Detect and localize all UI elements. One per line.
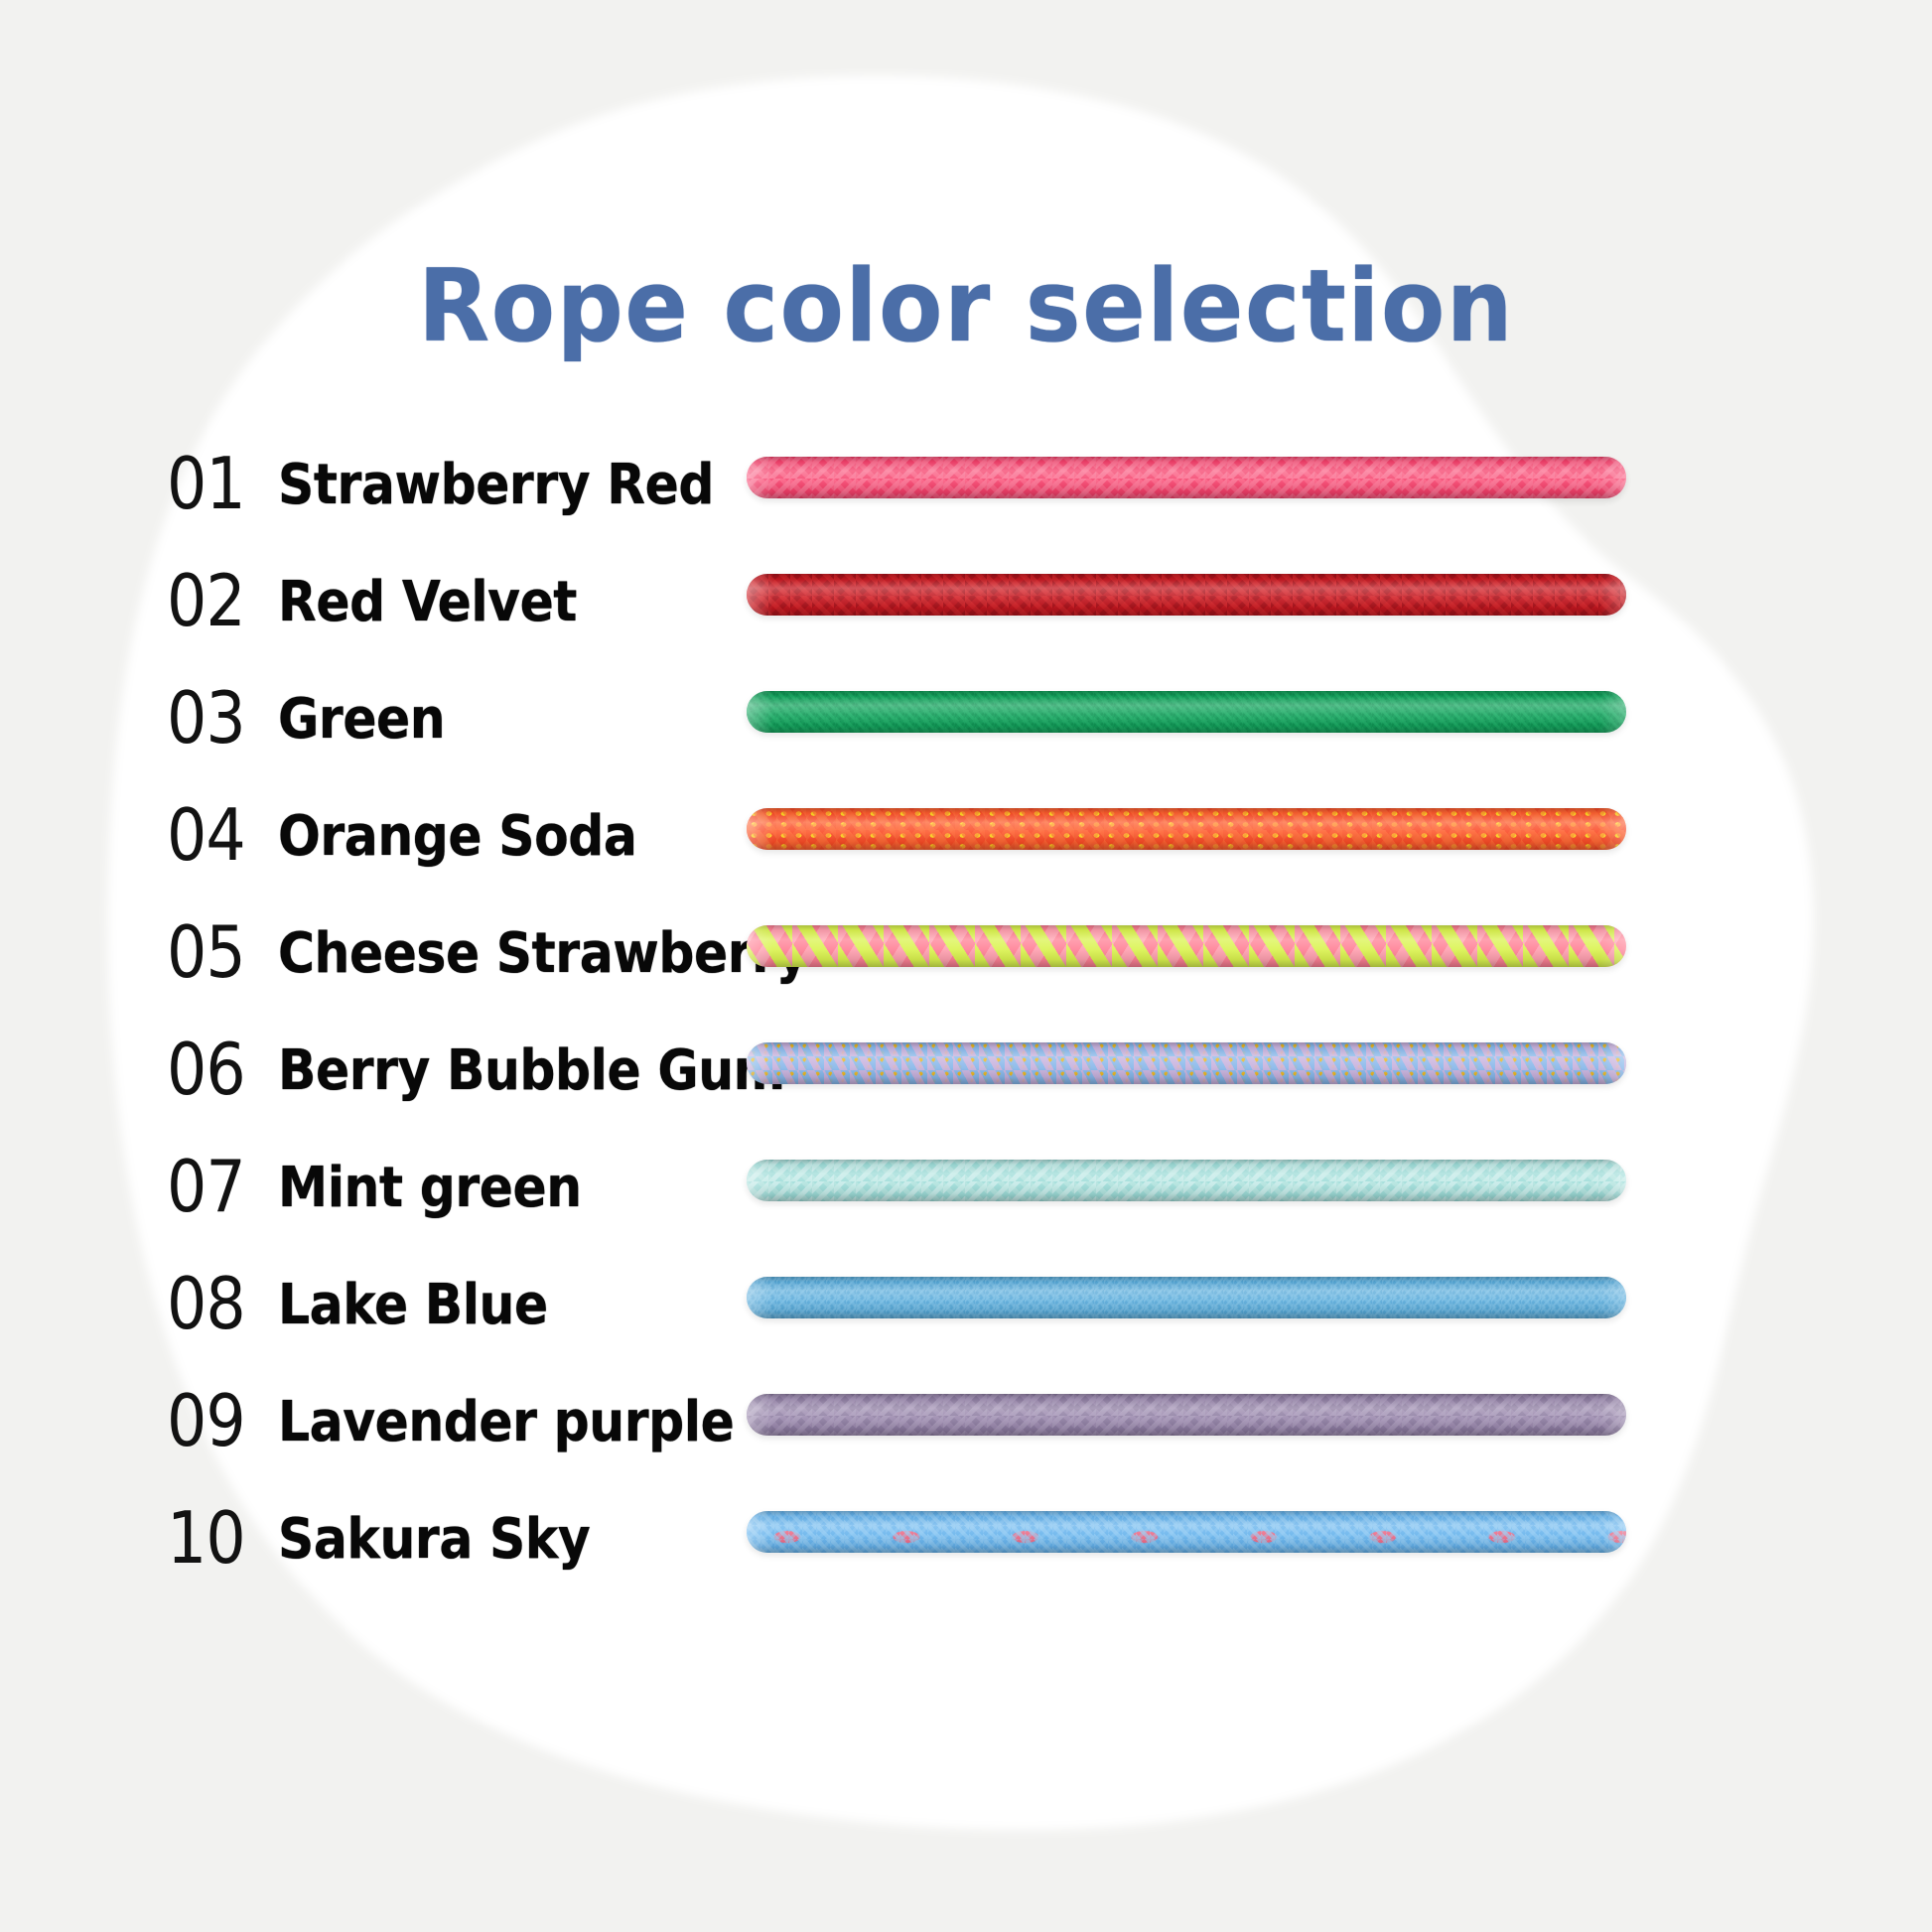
rope-item-label: Berry Bubble Gum <box>278 1038 785 1104</box>
rope-end-highlight <box>747 1042 1626 1084</box>
rope-list-item[interactable]: 06Berry Bubble Gum <box>0 1035 1932 1152</box>
rope-list-item[interactable]: 04Orange Soda <box>0 800 1932 917</box>
rope-item-number: 06 <box>167 1035 254 1104</box>
rope-item-label: Orange Soda <box>278 804 636 870</box>
rope-list-item[interactable]: 10Sakura Sky <box>0 1503 1932 1620</box>
rope-swatch-strawberry-red[interactable] <box>747 457 1626 498</box>
rope-end-highlight <box>747 1277 1626 1318</box>
rope-list-item[interactable]: 07Mint green <box>0 1152 1932 1269</box>
rope-swatch-orange-soda[interactable] <box>747 808 1626 850</box>
rope-item-label: Green <box>278 687 445 753</box>
rope-swatch-berry-bubble-gum[interactable] <box>747 1042 1626 1084</box>
rope-item-number: 04 <box>167 800 254 870</box>
rope-swatch-green[interactable] <box>747 691 1626 733</box>
rope-item-label: Red Velvet <box>278 570 577 635</box>
rope-swatch-lake-blue[interactable] <box>747 1277 1626 1318</box>
rope-end-highlight <box>747 457 1626 498</box>
rope-end-highlight <box>747 925 1626 967</box>
rope-item-number: 10 <box>167 1503 254 1573</box>
rope-list-item[interactable]: 05Cheese Strawberry <box>0 917 1932 1035</box>
rope-swatch-mint-green[interactable] <box>747 1160 1626 1201</box>
rope-item-number: 07 <box>167 1152 254 1221</box>
rope-item-number: 05 <box>167 917 254 987</box>
rope-item-label: Strawberry Red <box>278 453 714 518</box>
rope-item-label: Cheese Strawberry <box>278 921 808 987</box>
rope-item-label: Lavender purple <box>278 1390 734 1455</box>
rope-end-highlight <box>747 574 1626 616</box>
rope-item-number: 02 <box>167 566 254 635</box>
rope-end-highlight <box>747 691 1626 733</box>
rope-item-label: Sakura Sky <box>278 1507 590 1573</box>
rope-list-item[interactable]: 09Lavender purple <box>0 1386 1932 1503</box>
rope-color-list: 01Strawberry Red02Red Velvet03Green04Ora… <box>0 449 1932 1620</box>
rope-list-item[interactable]: 08Lake Blue <box>0 1269 1932 1386</box>
rope-end-highlight <box>747 1511 1626 1553</box>
rope-swatch-lavender-purple[interactable] <box>747 1394 1626 1436</box>
rope-list-item[interactable]: 02Red Velvet <box>0 566 1932 683</box>
rope-swatch-red-velvet[interactable] <box>747 574 1626 616</box>
rope-swatch-sakura-sky[interactable] <box>747 1511 1626 1553</box>
rope-list-item[interactable]: 03Green <box>0 683 1932 800</box>
rope-item-number: 03 <box>167 683 254 753</box>
rope-swatch-cheese-strawberry[interactable] <box>747 925 1626 967</box>
rope-item-number: 08 <box>167 1269 254 1338</box>
rope-item-label: Mint green <box>278 1156 582 1221</box>
rope-end-highlight <box>747 1394 1626 1436</box>
rope-end-highlight <box>747 808 1626 850</box>
rope-item-number: 09 <box>167 1386 254 1455</box>
rope-list-item[interactable]: 01Strawberry Red <box>0 449 1932 566</box>
rope-end-highlight <box>747 1160 1626 1201</box>
rope-item-number: 01 <box>167 449 254 518</box>
rope-item-label: Lake Blue <box>278 1273 548 1338</box>
page-title: Rope color selection <box>68 256 1864 356</box>
